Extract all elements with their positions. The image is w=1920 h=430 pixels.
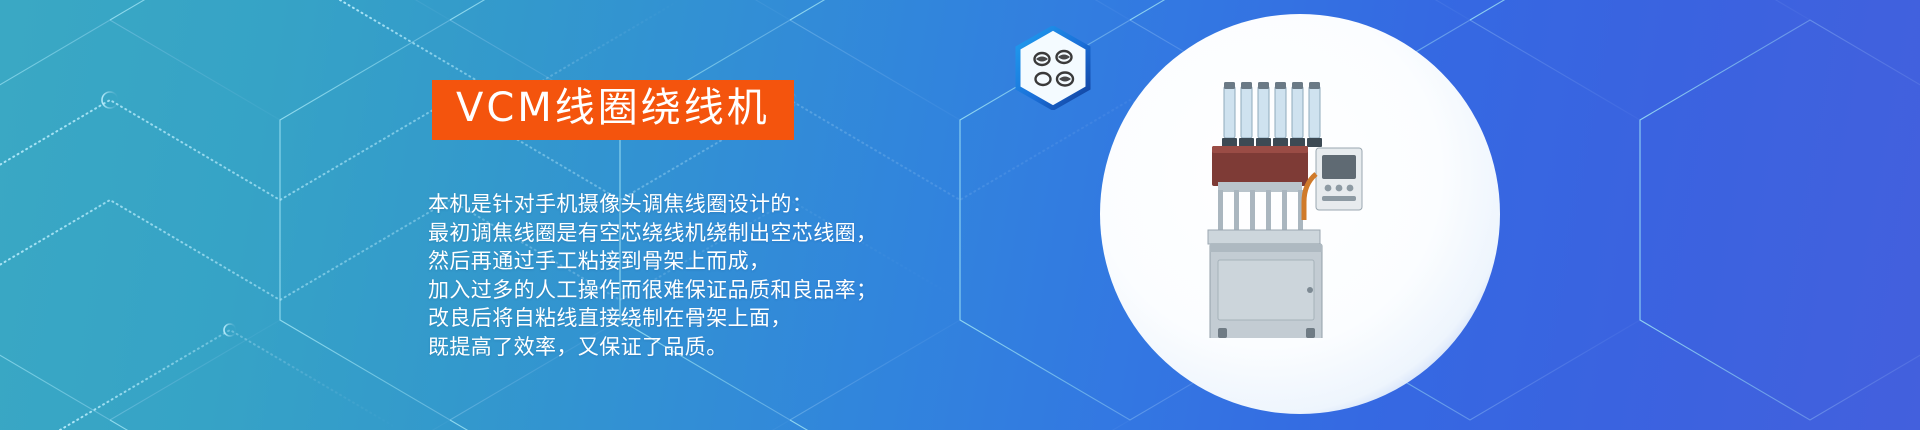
description-line: 既提高了效率，又保证了品质。	[428, 333, 877, 362]
description-line: 本机是针对手机摄像头调焦线圈设计的：	[428, 190, 877, 219]
description-line: 改良后将自粘线直接绕制在骨架上面，	[428, 304, 877, 333]
description-line: 然后再通过手工粘接到骨架上而成，	[428, 247, 877, 276]
description-line: 最初调焦线圈是有空芯绕线机绕制出空芯线圈，	[428, 219, 877, 248]
winding-machine-image	[1188, 78, 1388, 338]
isometric-mesh-decoration	[0, 0, 1920, 430]
page-title: VCM线圈绕线机	[456, 87, 770, 129]
banner-title-box: VCM线圈绕线机	[432, 80, 794, 140]
description-line: 加入过多的人工操作而很难保证品质和良品率；	[428, 276, 877, 305]
description-block: 本机是针对手机摄像头调焦线圈设计的： 最初调焦线圈是有空芯绕线机绕制出空芯线圈，…	[428, 190, 877, 361]
promo-banner: VCM线圈绕线机 本机是针对手机摄像头调焦线圈设计的： 最初调焦线圈是有空芯绕线…	[0, 0, 1920, 430]
hexagon-badge-icon	[1015, 26, 1091, 110]
